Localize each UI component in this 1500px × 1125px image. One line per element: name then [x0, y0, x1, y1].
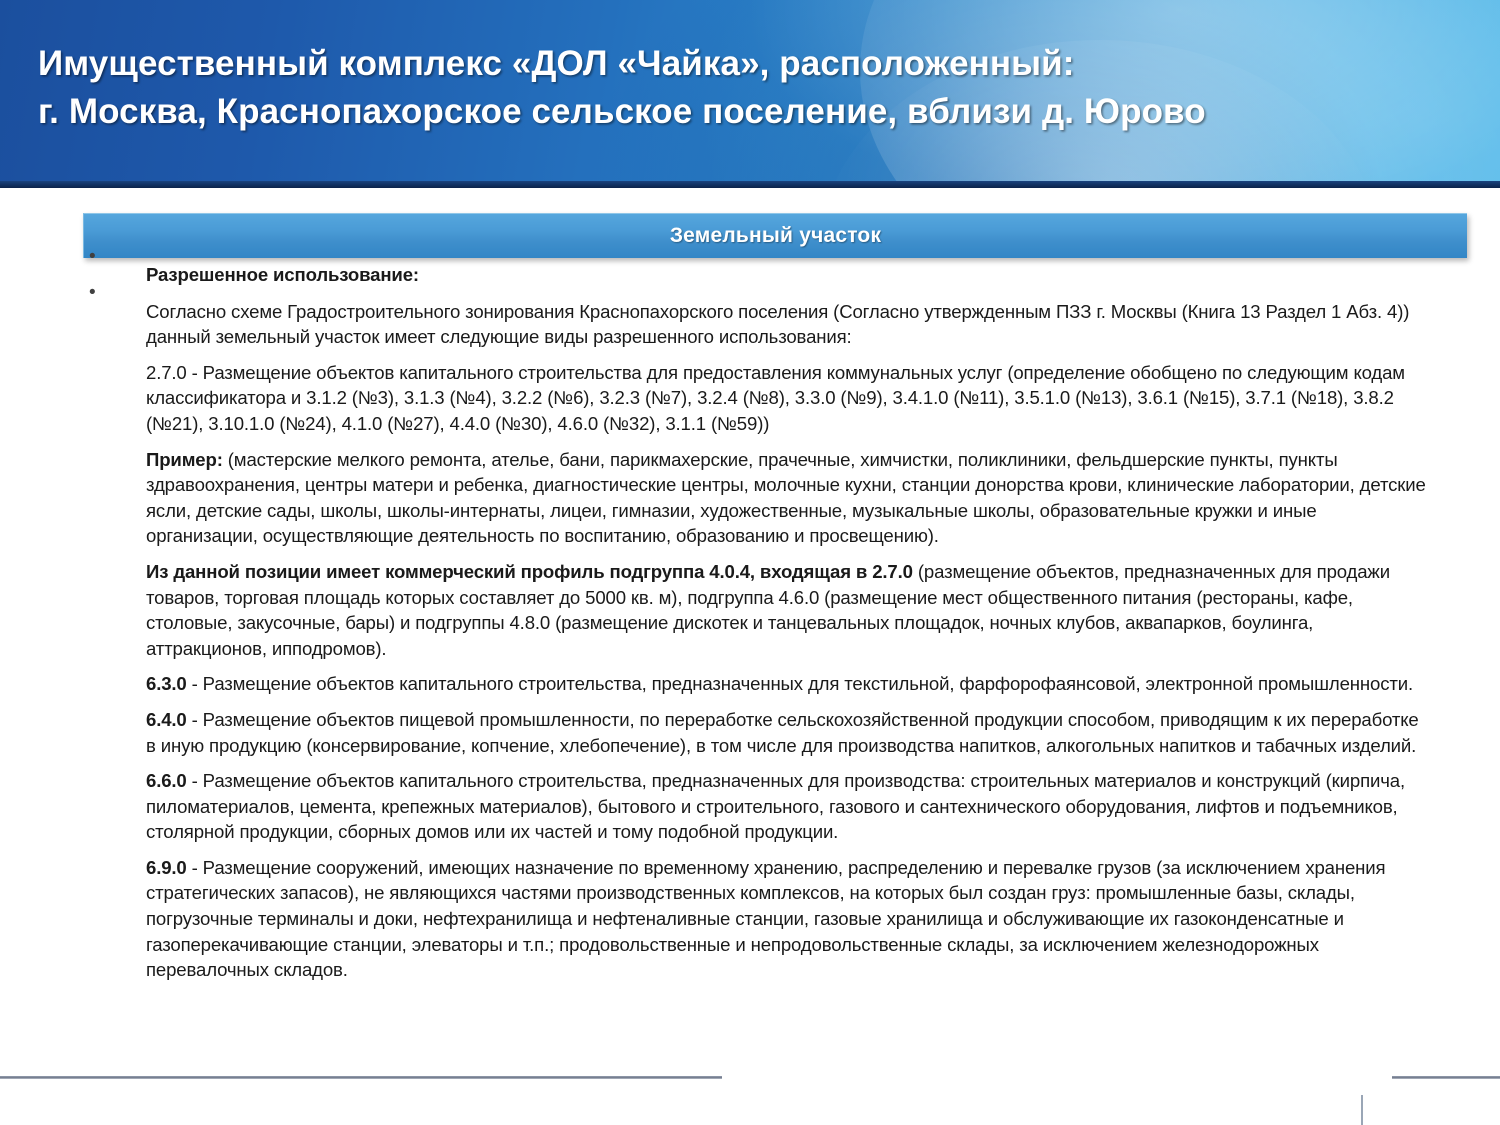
spacer [0, 758, 1500, 768]
paragraph-lead-code-630: 6.3.0 [146, 673, 187, 694]
paragraph-body-example: (мастерские мелкого ремонта, ателье, бан… [146, 449, 1426, 547]
footer-divider-right [1392, 1076, 1500, 1079]
bullet-text-permitted-use: Разрешенное использование: [146, 262, 1430, 288]
bullet-item-zoning-scheme: Согласно схеме Градостроительного зониро… [0, 299, 1500, 350]
spacer [0, 350, 1500, 360]
spacer [0, 437, 1500, 447]
spacer [0, 845, 1500, 855]
paragraph-lead-code-660: 6.6.0 [146, 770, 187, 791]
banner-bottom-strip [0, 181, 1500, 188]
spacer [0, 549, 1500, 559]
paragraph-text-code-660: 6.6.0 - Размещение объектов капитального… [146, 768, 1430, 845]
paragraph-lead-code-640: 6.4.0 [146, 709, 187, 730]
paragraph-lead-commercial-profile: Из данной позиции имеет коммерческий про… [146, 561, 913, 582]
paragraph-body-code-630: - Размещение объектов капитального строи… [187, 673, 1413, 694]
bullet-text-zoning-scheme: Согласно схеме Градостроительного зониро… [146, 299, 1430, 350]
spacer [0, 697, 1500, 707]
bullet-marker-icon [89, 305, 96, 312]
paragraph-commercial-profile: Из данной позиции имеет коммерческий про… [0, 559, 1500, 661]
paragraph-code-640: 6.4.0 - Размещение объектов пищевой пром… [0, 707, 1500, 758]
page-title: Имущественный комплекс «ДОЛ «Чайка», рас… [38, 40, 1468, 136]
bullet-marker-icon [89, 268, 96, 275]
paragraph-code-270: 2.7.0 - Размещение объектов капитального… [0, 360, 1500, 437]
content-area: Разрешенное использование: Согласно схем… [0, 262, 1500, 983]
section-title-label: Земельный участок [670, 224, 881, 248]
paragraph-text-code-630: 6.3.0 - Размещение объектов капитального… [146, 671, 1430, 697]
spacer [0, 288, 1500, 299]
paragraph-text-code-640: 6.4.0 - Размещение объектов пищевой пром… [146, 707, 1430, 758]
paragraph-body-code-660: - Размещение объектов капитального строи… [146, 770, 1405, 842]
header-banner: Имущественный комплекс «ДОЛ «Чайка», рас… [0, 0, 1500, 188]
section-title-bar: Земельный участок [83, 213, 1467, 258]
footer-divider-left [0, 1076, 722, 1079]
paragraph-code-660: 6.6.0 - Размещение объектов капитального… [0, 768, 1500, 845]
paragraph-text-commercial-profile: Из данной позиции имеет коммерческий про… [146, 559, 1430, 661]
paragraph-lead-example: Пример: [146, 449, 223, 470]
footer-vertical-tick [1361, 1095, 1363, 1125]
spacer [0, 661, 1500, 671]
bullet-item-permitted-use: Разрешенное использование: [0, 262, 1500, 288]
paragraph-code-690: 6.9.0 - Размещение сооружений, имеющих н… [0, 855, 1500, 983]
paragraph-body-code-640: - Размещение объектов пищевой промышленн… [146, 709, 1419, 756]
paragraph-text-code-690: 6.9.0 - Размещение сооружений, имеющих н… [146, 855, 1430, 983]
paragraph-example: Пример: (мастерские мелкого ремонта, ате… [0, 447, 1500, 549]
paragraph-text-example: Пример: (мастерские мелкого ремонта, ате… [146, 447, 1430, 549]
slide: Имущественный комплекс «ДОЛ «Чайка», рас… [0, 0, 1500, 1125]
paragraph-text-code-270: 2.7.0 - Размещение объектов капитального… [146, 360, 1430, 437]
paragraph-body-code-690: - Размещение сооружений, имеющих назначе… [146, 857, 1385, 980]
paragraph-code-630: 6.3.0 - Размещение объектов капитального… [0, 671, 1500, 697]
paragraph-lead-code-690: 6.9.0 [146, 857, 187, 878]
